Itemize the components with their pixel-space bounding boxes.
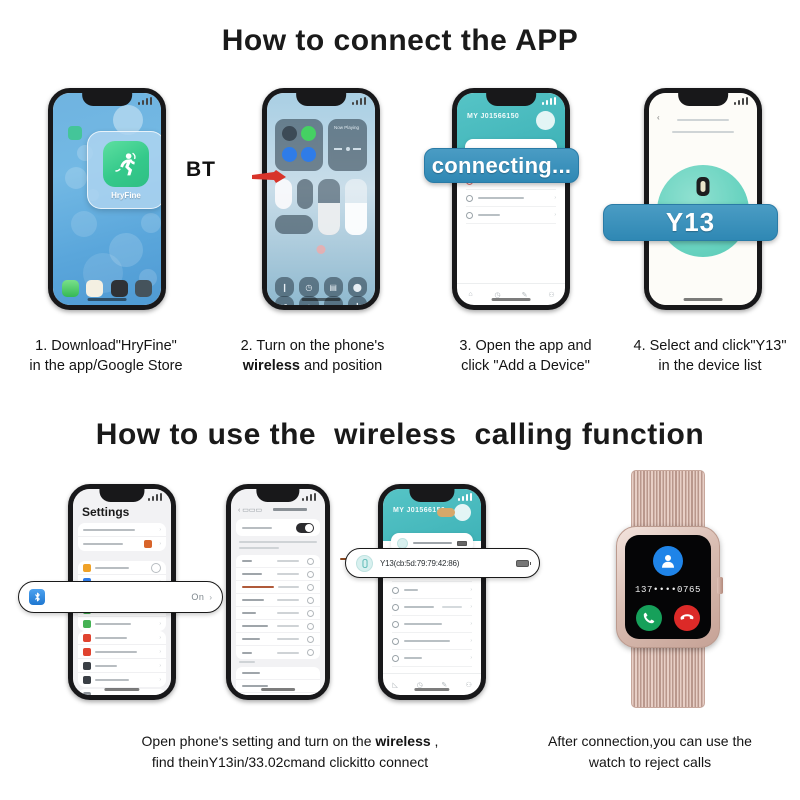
list-item[interactable]: [236, 581, 320, 594]
control-center-row-2: [275, 179, 367, 235]
status-pill: [437, 508, 455, 517]
list-item[interactable]: ›: [392, 650, 472, 667]
y13-device-banner: Y13: [603, 204, 778, 241]
caption-line: 3. Open the app and: [423, 336, 628, 356]
camera-icon[interactable]: ⬤: [348, 277, 367, 297]
tab-sport[interactable]: ✎: [432, 674, 457, 695]
screen-mirroring-tile[interactable]: [297, 179, 314, 209]
brightness-slider[interactable]: [318, 179, 340, 235]
tab-home[interactable]: ◺: [383, 674, 408, 695]
phone1-notch: [82, 93, 132, 106]
camera-dock-icon[interactable]: [111, 280, 128, 297]
other-devices-header: [239, 661, 255, 663]
list-item[interactable]: ›: [466, 207, 556, 224]
list-item[interactable]: [236, 646, 320, 659]
mute-switch[interactable]: [48, 137, 49, 149]
home-indicator: [414, 688, 449, 691]
avatar[interactable]: [536, 111, 555, 130]
list-item[interactable]: ›: [392, 633, 472, 650]
caption-line: in the device list: [620, 356, 800, 376]
remote-icon[interactable]: ↗: [275, 296, 294, 305]
list-item[interactable]: [236, 667, 320, 680]
list-item[interactable]: [236, 594, 320, 607]
caller-number: 137••••0765: [635, 585, 701, 595]
home-indicator: [261, 688, 295, 691]
media-tile[interactable]: Now Playing: [328, 119, 367, 171]
person-icon: [653, 546, 683, 576]
phone-decline-icon[interactable]: [674, 605, 700, 631]
list-item-notifications[interactable]: ›: [78, 631, 166, 645]
home-indicator: [88, 298, 127, 301]
caption-line: Open phone's setting and turn on the wir…: [75, 731, 505, 752]
caption-line: find theinY13in/33.02cmand clickitto con…: [75, 752, 505, 773]
power-button[interactable]: [329, 559, 330, 585]
list-item[interactable]: ›: [78, 523, 166, 537]
settings-group-account: › ›: [78, 523, 166, 551]
timer-icon[interactable]: ◷: [299, 277, 318, 297]
phone-accept-icon[interactable]: [636, 605, 662, 631]
watch-crown[interactable]: [717, 577, 723, 594]
title-part-1: How to use the: [96, 418, 316, 451]
hryfine-app-card[interactable]: HryFine: [87, 131, 161, 209]
chevron-right-icon: ›: [209, 593, 212, 602]
phone7-notch: [409, 489, 454, 502]
list-item-airplane[interactable]: [78, 561, 166, 575]
phone-mockup-6-bluetooth-list: ‹ ▭▭▭: [226, 484, 330, 700]
airplane-toggle[interactable]: [282, 126, 297, 141]
caption-bottom-left: Open phone's setting and turn on the wir…: [75, 731, 505, 773]
phone2-screen: Now Playing ❙: [267, 93, 375, 305]
phone1-dock: [58, 277, 155, 299]
control-center-grid: Now Playing: [275, 119, 367, 171]
list-item[interactable]: [236, 607, 320, 620]
section-1-title: How to connect the APP: [0, 24, 800, 58]
magnifier-icon[interactable]: ❙: [348, 296, 367, 305]
power-button[interactable]: [379, 165, 380, 193]
phone-mockup-4-device-found: ‹: [644, 88, 762, 310]
focus-tile[interactable]: [275, 215, 313, 234]
phone-dock-icon[interactable]: [62, 280, 79, 297]
home-indicator: [684, 298, 723, 301]
caption-line: After connection,you can use the: [500, 731, 800, 752]
phone-mockup-1-home-screen: HryFine: [48, 88, 166, 310]
list-item-screentime[interactable]: ›: [78, 673, 166, 687]
media-title: Now Playing: [334, 125, 359, 130]
bluetooth-toggle-switch[interactable]: [296, 523, 314, 533]
caption-line: 1. Download"HryFine": [6, 336, 206, 356]
watch-band-top: [631, 470, 705, 534]
bluetooth-state-label: On: [191, 592, 204, 602]
list-item[interactable]: [236, 633, 320, 646]
caption-rest: and position: [300, 358, 382, 374]
bluetooth-toggle[interactable]: [301, 147, 316, 162]
list-item-hotspot[interactable]: ›: [78, 617, 166, 631]
connecting-banner: connecting...: [424, 148, 579, 183]
tab-home[interactable]: ⌂: [457, 284, 484, 305]
app-tab-bar: ◺ ◷ ✎ ⚇: [383, 673, 481, 695]
next-icon[interactable]: [353, 148, 361, 150]
settings-group-system: › › › ›: [78, 631, 166, 687]
avatar[interactable]: [454, 504, 471, 521]
call-action-buttons: [636, 605, 700, 631]
red-pointer-arrow: [252, 170, 286, 189]
tab-profile[interactable]: ⚇: [457, 674, 482, 695]
list-item[interactable]: [236, 680, 320, 693]
volume-slider[interactable]: [345, 179, 367, 235]
phone2-notch: [296, 93, 346, 106]
my-devices-list: [236, 555, 320, 659]
bluetooth-settings-screen: ‹ ▭▭▭: [231, 489, 325, 695]
signal-icon: [734, 97, 748, 105]
wifi-toggle[interactable]: [282, 147, 297, 162]
app-menu-list: › › ›: [457, 173, 565, 283]
caption-step-2: 2. Turn on the phone's wireless and posi…: [205, 336, 420, 376]
power-button[interactable]: [165, 165, 166, 195]
connectivity-tile[interactable]: [275, 119, 323, 171]
signal-icon: [458, 493, 472, 501]
navigation-bar: ‹ ▭▭▭: [231, 503, 325, 516]
battery-icon: [516, 560, 529, 567]
device-list-background: [649, 93, 757, 305]
bluetooth-setting-callout[interactable]: On ›: [18, 581, 223, 613]
watch-screen-incoming-call: 137••••0765: [625, 535, 711, 639]
caption-step-1: 1. Download"HryFine" in the app/Google S…: [6, 336, 206, 376]
list-item[interactable]: [236, 555, 320, 568]
section-header: [239, 547, 279, 549]
settings-title: Settings: [82, 505, 129, 519]
running-person-icon: [103, 141, 149, 187]
caption-bottom-right: After connection,you can use the watch t…: [500, 731, 800, 773]
photos-dock-icon[interactable]: [135, 280, 152, 297]
volume-up-button[interactable]: [644, 143, 645, 159]
caption-line: 2. Turn on the phone's: [205, 336, 420, 356]
caption-line: click "Add a Device": [423, 356, 628, 376]
signal-icon: [542, 97, 556, 105]
phone4-screen: ‹: [649, 93, 757, 305]
settings-icon: [466, 195, 473, 202]
caption-line: watch to reject calls: [500, 752, 800, 773]
phone7-screen: MY J01566150 › › › › › ›: [383, 489, 481, 695]
list-item[interactable]: ›: [466, 190, 556, 207]
volume-down-button[interactable]: [68, 557, 69, 572]
section-2-title: How to use thewirelesscalling function: [0, 418, 800, 452]
volume-up-button[interactable]: [68, 537, 69, 552]
volume-down-button[interactable]: [226, 557, 227, 572]
indicator-dot: [317, 245, 326, 254]
watch-band-bottom: [631, 644, 705, 708]
caption-step-4: 4. Select and click"Y13" in the device l…: [620, 336, 800, 376]
title-part-2: calling function: [475, 418, 705, 451]
volume-up-button[interactable]: [48, 157, 49, 177]
phone-mockup-7-app-device: MY J01566150 › › › › › ›: [378, 484, 486, 700]
watch-device-icon: [697, 177, 710, 196]
caption-pre: Open phone's setting and turn on the: [142, 733, 376, 749]
app-tab-bar: ⌂ ◷ ✎ ⚇: [457, 283, 565, 305]
infographic-page: How to connect the APP: [0, 0, 800, 800]
cellular-toggle[interactable]: [301, 126, 316, 141]
small-app-shortcut-icon[interactable]: [68, 126, 82, 140]
signal-icon: [302, 493, 316, 501]
flashlight-icon[interactable]: ❙: [275, 277, 294, 297]
tab-profile[interactable]: ⚇: [538, 284, 565, 305]
signal-icon: [138, 97, 152, 105]
list-item[interactable]: [236, 693, 320, 695]
phone6-screen: ‹ ▭▭▭: [231, 489, 325, 695]
list-item[interactable]: [236, 620, 320, 633]
nav-title: [273, 508, 307, 511]
list-item[interactable]: [236, 568, 320, 581]
home-indicator: [492, 298, 531, 301]
signal-icon: [148, 493, 162, 501]
volume-down-button[interactable]: [48, 183, 49, 203]
watch-case: 137••••0765: [616, 526, 720, 648]
list-item[interactable]: ›: [392, 599, 472, 616]
back-icon[interactable]: ‹ ▭▭▭: [238, 506, 262, 514]
phone-mockup-3-app-connecting: MY J01566150 › › › ⌂ ◷ ✎ ⚇: [452, 88, 570, 310]
user-id-label: MY J01566150: [467, 113, 519, 120]
play-icon[interactable]: [346, 147, 350, 151]
volume-down-button[interactable]: [644, 165, 645, 181]
list-item[interactable]: ›: [392, 616, 472, 633]
phone5-notch: [99, 489, 144, 502]
info-icon: [466, 212, 473, 219]
list-item[interactable]: ›: [78, 537, 166, 551]
calculator-icon[interactable]: ▤: [324, 277, 343, 297]
caption-step-3: 3. Open the app and click "Add a Device": [423, 336, 628, 376]
phone4-notch: [678, 93, 728, 106]
tab-device[interactable]: ◷: [484, 284, 511, 305]
caption-line: 4. Select and click"Y13": [620, 336, 800, 356]
list-item[interactable]: ›: [392, 582, 472, 599]
volume-up-button[interactable]: [262, 143, 263, 159]
caption-post: ,: [431, 733, 439, 749]
home-indicator: [104, 688, 139, 691]
volume-up-button[interactable]: [226, 537, 227, 552]
device-name-callout[interactable]: Y13(cb:5d:79:79:42:86): [345, 548, 540, 578]
phone3-screen: MY J01566150 › › › ⌂ ◷ ✎ ⚇: [457, 93, 565, 305]
media-controls[interactable]: [334, 147, 361, 151]
tab-device[interactable]: ◷: [408, 674, 433, 695]
bt-label: BT: [186, 158, 216, 182]
bluetooth-toggle-card[interactable]: [236, 519, 320, 536]
caption-bold-word: wireless: [243, 358, 300, 374]
prev-icon[interactable]: [334, 148, 342, 150]
caption-bold-word: wireless: [375, 733, 430, 749]
phone-mockup-2-control-center: Now Playing ❙: [262, 88, 380, 310]
phone6-notch: [256, 489, 299, 502]
tab-sport[interactable]: ✎: [511, 284, 538, 305]
signal-icon: [352, 97, 366, 105]
app-name-label: HryFine: [111, 191, 141, 200]
title-bold-word: wireless: [334, 418, 456, 451]
power-button[interactable]: [761, 165, 762, 193]
home-indicator: [302, 298, 341, 301]
caption-line: wireless and position: [205, 356, 420, 376]
phone1-screen: HryFine: [53, 93, 161, 305]
bluetooth-icon: [29, 589, 45, 605]
watch-device-icon: [356, 555, 373, 572]
notes-dock-icon[interactable]: [86, 280, 103, 297]
app-menu-list: › › › › › ›: [383, 565, 481, 673]
list-item-sounds[interactable]: ›: [78, 645, 166, 659]
caption-line: in the app/Google Store: [6, 356, 206, 376]
list-item-focus[interactable]: ›: [78, 659, 166, 673]
phone3-notch: [486, 93, 536, 106]
smartwatch-mockup: 137••••0765: [586, 470, 750, 708]
back-icon[interactable]: ‹: [657, 113, 660, 122]
section-hint-line: [239, 541, 317, 543]
control-center-bottom-row: ❙ ◷ ▤ ⬤: [275, 277, 367, 297]
device-name-label: Y13(cb:5d:79:79:42:86): [380, 559, 459, 568]
